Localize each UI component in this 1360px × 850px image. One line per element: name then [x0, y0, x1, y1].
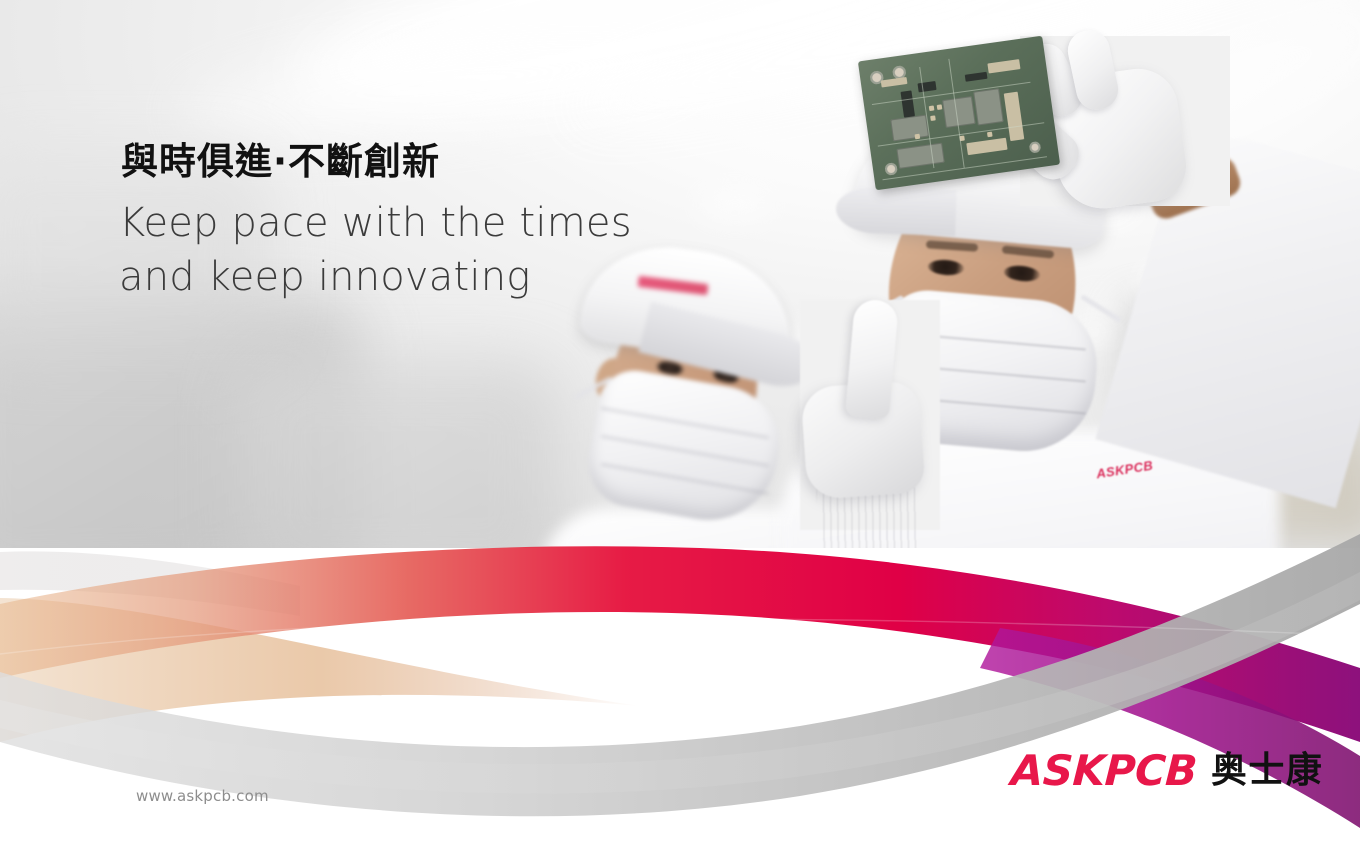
logo-latin-text: ASKPCB: [1010, 750, 1198, 792]
subtitle-line-1: Keep pace with the times: [119, 200, 632, 246]
logo-cjk-text: 奥士康: [1211, 753, 1324, 789]
website-url[interactable]: www.askpcb.com: [136, 787, 269, 805]
company-logo[interactable]: ASKPCB 奥士康: [1011, 750, 1323, 792]
banner-canvas: ASKPCB: [0, 0, 1360, 850]
subtitle-line-2: and keep innovating: [119, 254, 530, 300]
page-title: 與時俱進·不斷創新: [121, 131, 440, 185]
brand-wave-graphics: [0, 0, 1360, 850]
